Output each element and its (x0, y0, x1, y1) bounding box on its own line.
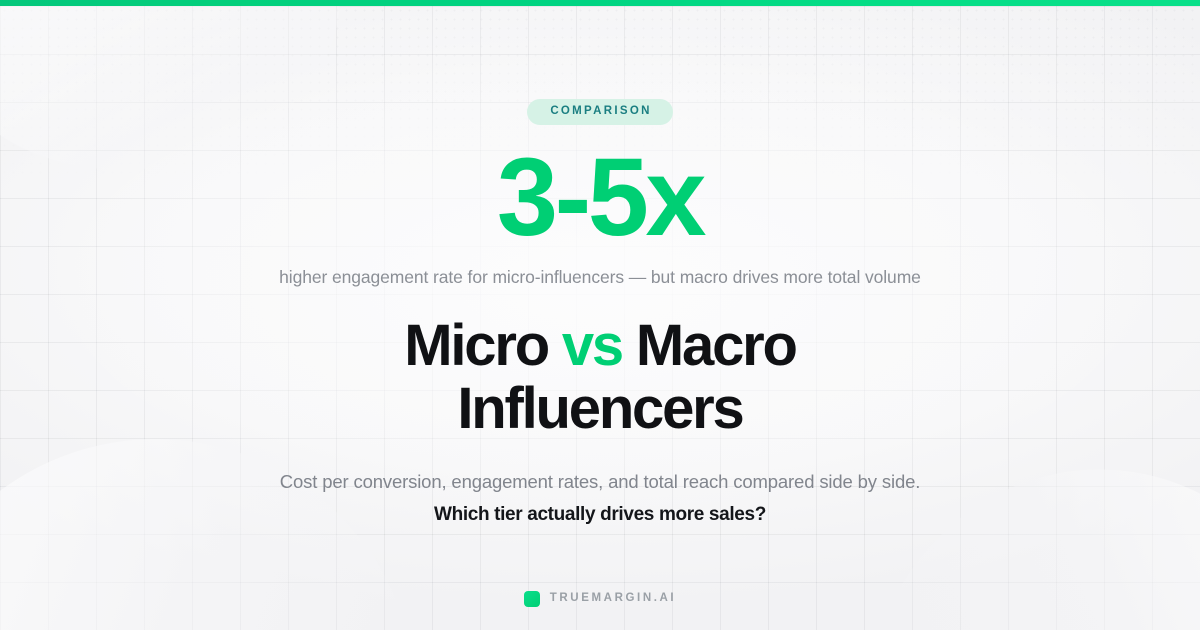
question-text: Which tier actually drives more sales? (434, 504, 766, 526)
poster-canvas: COMPARISON 3-5x higher engagement rate f… (0, 0, 1200, 630)
stat-caption: higher engagement rate for micro-influen… (279, 266, 921, 290)
headline-part-two: Macro (622, 313, 796, 378)
brand-name: TRUEMARGIN.AI (550, 593, 676, 605)
poster-content: COMPARISON 3-5x higher engagement rate f… (0, 0, 1200, 630)
square-logo-icon (524, 591, 540, 607)
brand-footer: TRUEMARGIN.AI (0, 591, 1200, 607)
stat-value: 3-5x (497, 147, 703, 248)
description-text: Cost per conversion, engagement rates, a… (280, 469, 920, 496)
headline-accent-word: vs (562, 313, 622, 378)
top-accent-bar (0, 0, 1200, 6)
headline-part-one: Micro (404, 313, 562, 378)
category-badge: COMPARISON (527, 99, 672, 125)
headline-line-two: Influencers (457, 376, 742, 441)
page-title: Micro vs Macro Influencers (404, 315, 795, 440)
